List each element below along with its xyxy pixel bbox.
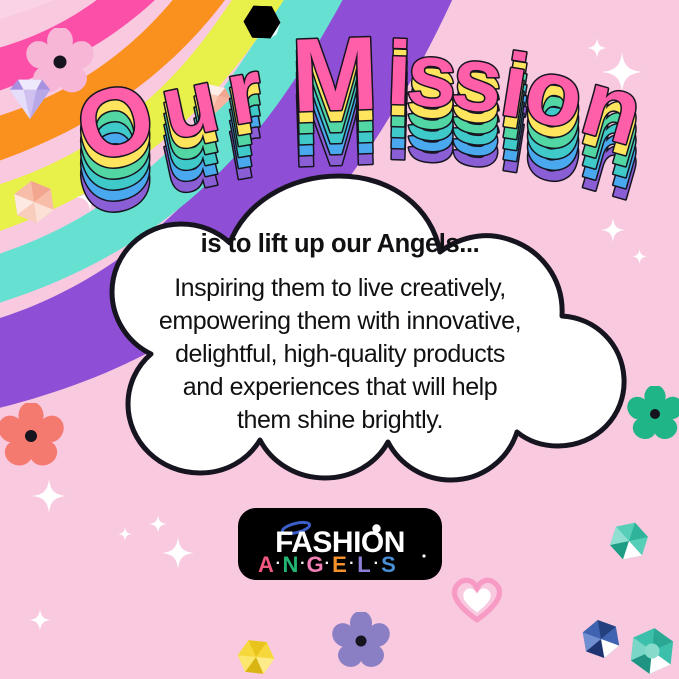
- mission-headline: is to lift up our Angels...: [96, 230, 584, 258]
- logo-angels-letter: S: [381, 552, 396, 577]
- mission-body-line: them shine brightly.: [96, 404, 584, 437]
- mission-body-line: Inspiring them to live creatively,: [96, 272, 584, 305]
- mission-body-line: and experiences that will help: [96, 371, 584, 404]
- mission-body-line: empowering them with innovative,: [96, 305, 584, 338]
- logo-angels-letter: A: [258, 552, 274, 577]
- mission-body-line: delightful, high-quality products: [96, 338, 584, 371]
- mission-body: Inspiring them to live creatively, empow…: [96, 272, 584, 437]
- logo-angels-letter: L: [357, 552, 370, 577]
- fashion-angels-logo: FASHION A·N·G·E·L·S: [238, 508, 442, 580]
- poster-canvas: O OurMissionOurMissionOurMissionOurMissi…: [0, 0, 679, 679]
- logo-angels-separator: ·: [325, 555, 330, 572]
- logo-angels-separator: ·: [349, 555, 354, 572]
- cloud-text-block: is to lift up our Angels... Inspiring th…: [96, 230, 584, 437]
- logo-word-angels: A·N·G·E·L·S: [258, 552, 396, 577]
- logo-angels-letter: G: [306, 552, 323, 577]
- logo-angels-letter: E: [332, 552, 347, 577]
- logo-angels-separator: ·: [276, 555, 281, 572]
- logo-angels-separator: ·: [300, 555, 305, 572]
- logo-angels-letter: N: [283, 552, 299, 577]
- logo-angels-separator: ·: [374, 555, 379, 572]
